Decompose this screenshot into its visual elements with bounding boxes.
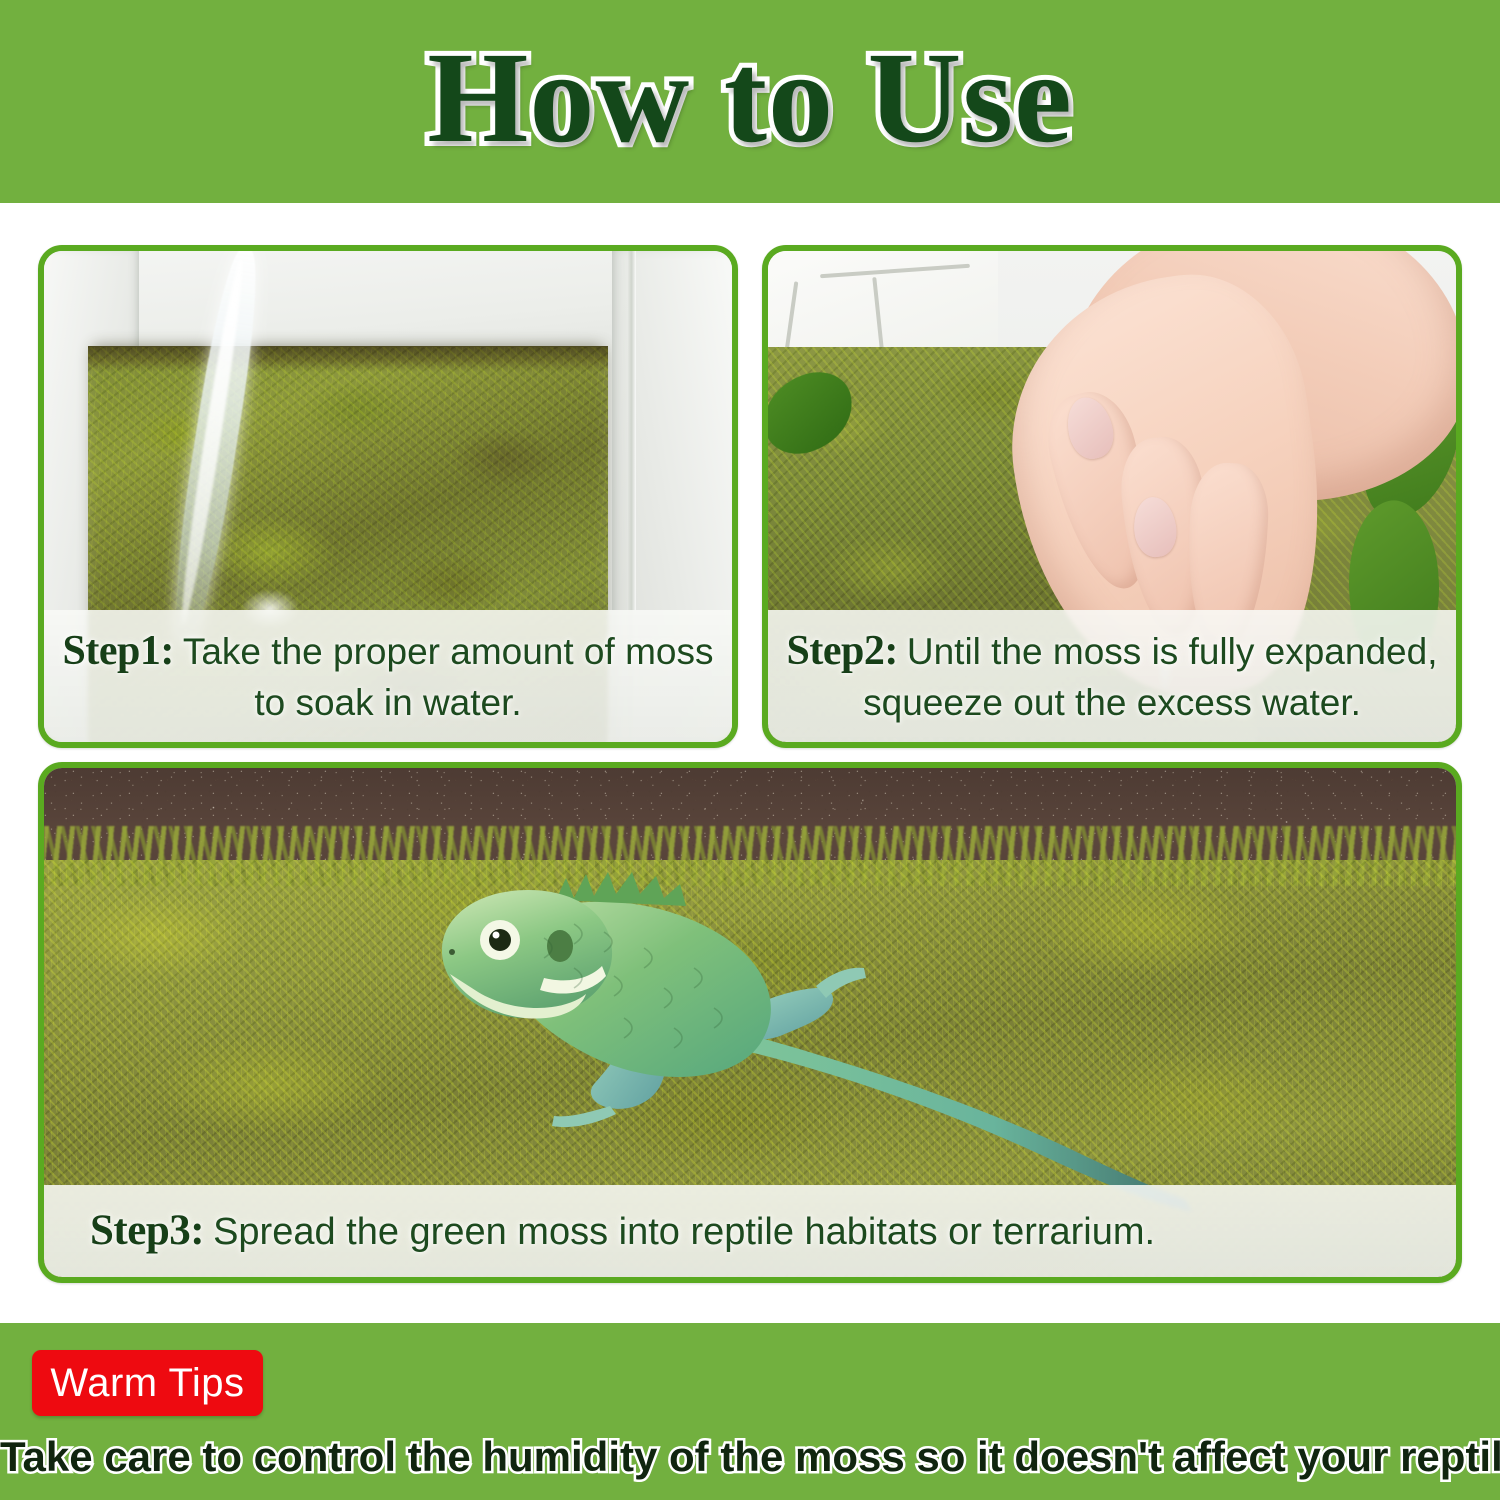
footer-banner: Warm Tips Take care to control the humid… [0,1323,1500,1500]
warm-tips-badge: Warm Tips [32,1350,263,1416]
steps-area: Step1:Take the proper amount of moss to … [0,203,1500,1323]
step-3-label: Step3: [90,1207,204,1254]
step-3-body: Spread the green moss into reptile habit… [213,1211,1155,1253]
step-3-caption-text: Step3:Spread the green moss into reptile… [90,1203,1155,1260]
step-2-label: Step2: [787,628,898,674]
lizard-eye [489,929,511,951]
header-banner: How to Use [0,0,1500,203]
step-2-caption-text: Step2:Until the moss is fully expanded, … [786,624,1438,728]
lizard-nostril [449,949,455,955]
step-1-panel: Step1:Take the proper amount of moss to … [38,245,738,748]
step-3-caption: Step3:Spread the green moss into reptile… [44,1185,1456,1277]
moss-block-top-edge [88,346,608,372]
step-1-body: Take the proper amount of moss to soak i… [183,631,714,723]
step-1-caption-text: Step1:Take the proper amount of moss to … [62,624,714,728]
lizard-eye-glint [493,932,500,939]
warm-tips-badge-label: Warm Tips [50,1363,244,1403]
warm-tips-note: Take care to control the humidity of the… [0,1436,1500,1478]
step-2-body: Until the moss is fully expanded, squeez… [863,631,1437,723]
page-title: How to Use [427,33,1072,163]
step-2-caption: Step2:Until the moss is fully expanded, … [768,610,1456,742]
lizard-hind-foot [816,968,866,998]
step-3-panel: Step3:Spread the green moss into reptile… [38,762,1462,1283]
lizard-front-foot [552,1106,616,1127]
how-to-use-infographic: How to Use Step1:Take the proper amount … [0,0,1500,1500]
step-1-caption: Step1:Take the proper amount of moss to … [44,610,732,742]
step-2-panel: Step2:Until the moss is fully expanded, … [762,245,1462,748]
lizard-head [442,890,612,1018]
step-1-label: Step1: [63,628,174,674]
